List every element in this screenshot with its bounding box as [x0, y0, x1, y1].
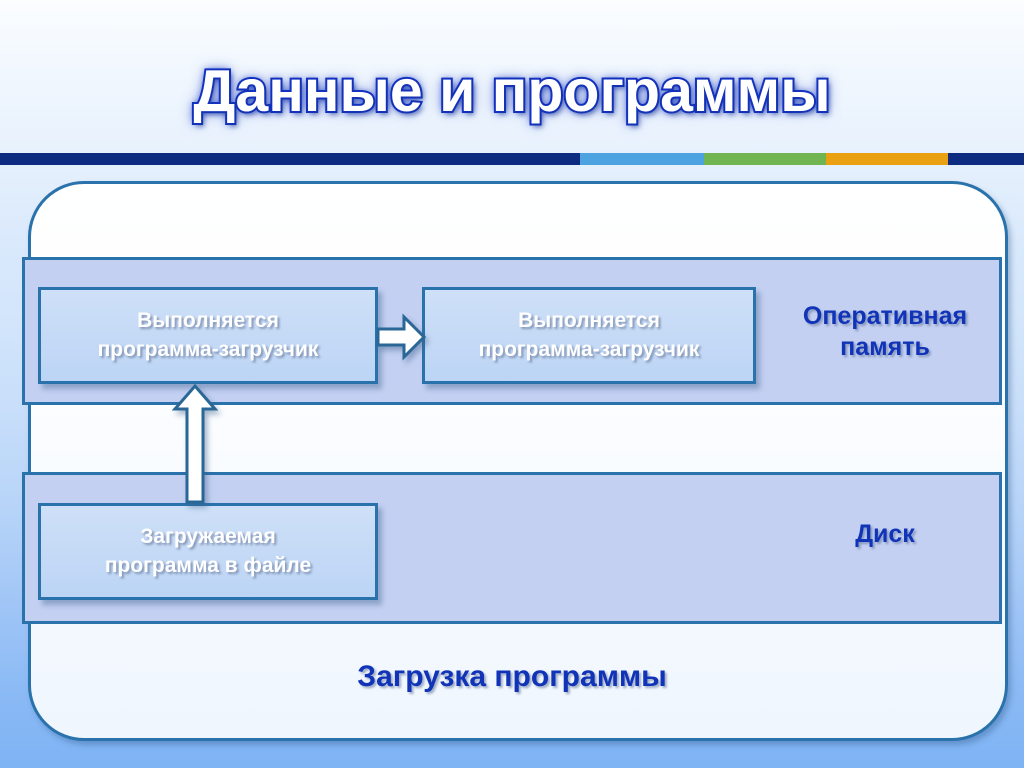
arrow-up-icon [172, 383, 218, 505]
ram-zone-label: Оперативная память [770, 301, 1000, 364]
box-loader-left[interactable]: Выполняется программа-загрузчик [38, 287, 378, 384]
box-loader-right-line1: Выполняется [518, 309, 660, 332]
title-area: Данные и программы [0, 36, 1024, 146]
box-file-line2: программа в файле [105, 554, 311, 577]
box-loader-right-line2: программа-загрузчик [479, 338, 700, 361]
divider-segment-navy-left [0, 153, 580, 165]
box-loader-right-text: Выполняется программа-загрузчик [473, 307, 706, 364]
box-file-text: Загружаемая программа в файле [99, 523, 317, 580]
box-loaded-program-file[interactable]: Загружаемая программа в файле [38, 503, 378, 600]
divider-bar [0, 153, 1024, 165]
divider-segment-green [704, 153, 826, 165]
arrow-right-icon [376, 313, 426, 361]
box-loader-left-line2: программа-загрузчик [98, 338, 319, 361]
diagram-caption: Загрузка программы [0, 660, 1024, 694]
page-title: Данные и программы [193, 57, 830, 125]
ram-label-line2: память [840, 333, 930, 361]
ram-label-line1: Оперативная [803, 302, 967, 330]
box-loader-left-text: Выполняется программа-загрузчик [92, 307, 325, 364]
box-loader-right[interactable]: Выполняется программа-загрузчик [422, 287, 756, 384]
divider-segment-orange [826, 153, 948, 165]
box-file-line1: Загружаемая [140, 525, 276, 548]
divider-segment-light-blue [580, 153, 704, 165]
slide-canvas: Данные и программы Оперативная память Ди… [0, 0, 1024, 768]
disk-zone-label: Диск [770, 519, 1000, 550]
divider-segment-navy-right [948, 153, 1024, 165]
box-loader-left-line1: Выполняется [137, 309, 279, 332]
